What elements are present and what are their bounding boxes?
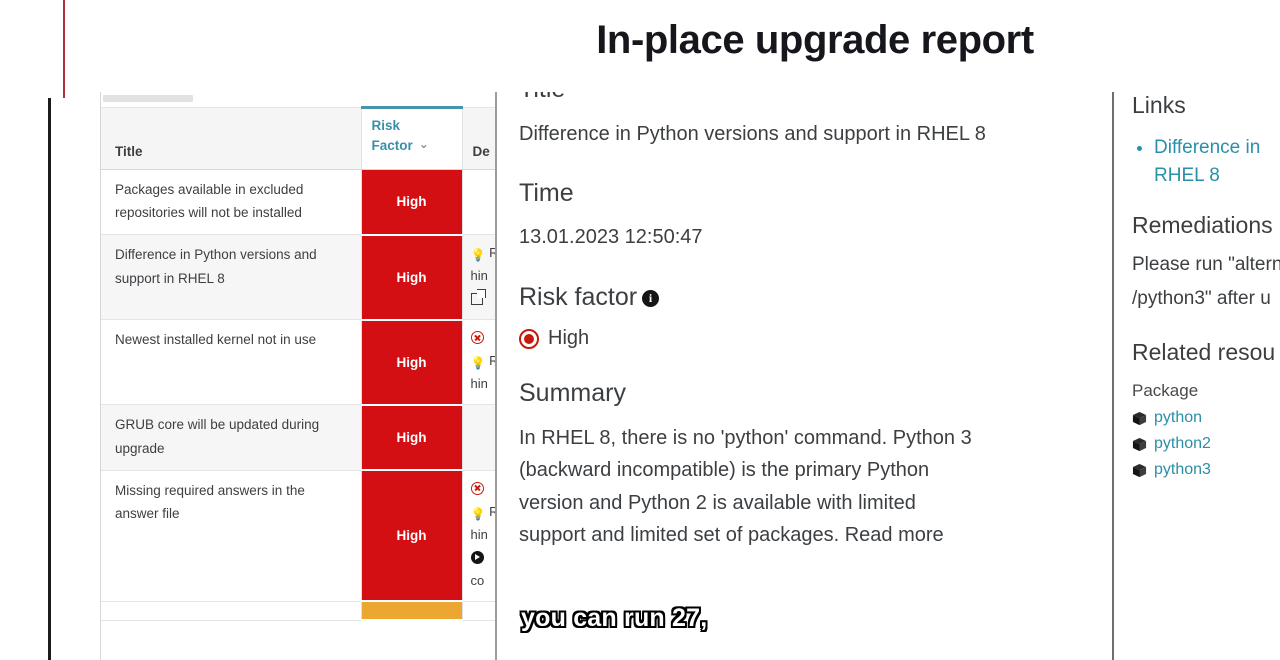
summary-line: (backward incompatible) is the primary P…	[519, 454, 1094, 486]
chevron-down-icon[interactable]: ⌄	[419, 136, 429, 154]
detail-text: co	[471, 573, 485, 588]
related-resources-heading: Related resou	[1132, 339, 1280, 365]
table-row[interactable]: Packages available in excluded repositor…	[101, 170, 496, 235]
cell-details	[462, 405, 496, 470]
column-header-risk-factor[interactable]: Risk Factor⌄	[361, 108, 462, 170]
remediation-line: /python3" after u	[1132, 284, 1280, 314]
remediations-heading: Remediations	[1132, 212, 1280, 238]
cell-risk-factor	[361, 601, 462, 620]
error-circle-icon	[471, 482, 484, 495]
package-label: Package	[1132, 381, 1280, 401]
column-header-risk-line1: Risk	[372, 118, 401, 133]
list-item[interactable]: python3	[1132, 461, 1280, 479]
decorative-black-rule	[48, 98, 51, 660]
lightbulb-icon: 💡	[471, 353, 486, 374]
table-horizontal-scrollbar[interactable]	[101, 92, 496, 106]
cell-details: 💡 R hin	[462, 320, 496, 405]
panel-divider-right	[1112, 92, 1114, 660]
package-name[interactable]: python3	[1154, 461, 1211, 479]
sidebar-pane: Links Difference in RHEL 8 Remediations …	[1132, 92, 1280, 660]
table-row[interactable]: Missing required answers in the answer f…	[101, 470, 496, 601]
radio-selected-icon[interactable]	[519, 329, 539, 349]
detail-risk-heading: Risk factori	[519, 284, 1094, 312]
risk-table-body: Packages available in excluded repositor…	[101, 170, 496, 621]
summary-line: support and limited set of packages. Rea…	[519, 519, 1094, 551]
links-list: Difference in RHEL 8	[1154, 134, 1280, 189]
cell-title: Difference in Python versions and suppor…	[101, 235, 361, 320]
cell-title: GRUB core will be updated during upgrade	[101, 405, 361, 470]
table-header-row: Title Risk Factor⌄ De	[101, 108, 496, 170]
scrollbar-thumb[interactable]	[103, 95, 193, 102]
report-screen: In-place upgrade report Title Risk Facto…	[0, 0, 1280, 660]
cell-risk-factor: High	[361, 235, 462, 320]
detail-text: hin	[471, 527, 488, 542]
column-header-risk-line2: Factor	[372, 138, 413, 153]
cell-risk-factor: High	[361, 170, 462, 235]
package-icon	[1132, 411, 1147, 426]
risk-table-panel: Title Risk Factor⌄ De Packages available…	[100, 92, 496, 660]
detail-text: hin	[471, 268, 488, 283]
column-header-title-label: Title	[115, 144, 143, 159]
summary-line: In RHEL 8, there is no 'python' command.…	[519, 422, 1094, 454]
subtitle-caption: you can run 27,	[521, 604, 707, 633]
cell-details: 💡 R hin co	[462, 470, 496, 601]
cell-title: Missing required answers in the answer f…	[101, 470, 361, 601]
detail-title-heading: Title	[519, 92, 1094, 104]
cell-title: Packages available in excluded repositor…	[101, 170, 361, 235]
list-item[interactable]: python	[1132, 409, 1280, 427]
cell-risk-factor: High	[361, 405, 462, 470]
table-row[interactable]	[101, 601, 496, 620]
detail-summary-heading: Summary	[519, 380, 1094, 408]
lightbulb-icon: 💡	[471, 504, 486, 525]
detail-title-value: Difference in Python versions and suppor…	[519, 118, 1094, 150]
column-header-details-label: De	[473, 144, 490, 159]
detail-risk-value: High	[548, 327, 589, 350]
cell-risk-factor: High	[361, 470, 462, 601]
list-item[interactable]: python2	[1132, 435, 1280, 453]
package-icon	[1132, 463, 1147, 478]
link-text[interactable]: Difference in	[1154, 137, 1260, 158]
detail-risk-heading-label: Risk factor	[519, 283, 637, 311]
play-circle-icon[interactable]	[471, 551, 484, 564]
list-item[interactable]: Difference in RHEL 8	[1154, 134, 1280, 189]
table-row[interactable]: GRUB core will be updated during upgrade…	[101, 405, 496, 470]
column-header-title[interactable]: Title	[101, 108, 361, 170]
links-heading: Links	[1132, 92, 1280, 118]
cell-title: Newest installed kernel not in use	[101, 320, 361, 405]
table-row[interactable]: Difference in Python versions and suppor…	[101, 235, 496, 320]
decorative-red-rule	[63, 0, 65, 98]
info-icon[interactable]: i	[642, 290, 659, 307]
summary-line: version and Python 2 is available with l…	[519, 487, 1094, 519]
package-name[interactable]: python2	[1154, 435, 1211, 453]
link-text[interactable]: RHEL 8	[1154, 165, 1220, 186]
cell-title	[101, 601, 361, 620]
detail-risk-radio-row[interactable]: High	[519, 327, 1094, 350]
cell-risk-factor: High	[361, 320, 462, 405]
detail-time-value: 13.01.2023 12:50:47	[519, 221, 1094, 253]
panel-divider-left	[495, 92, 497, 660]
table-row[interactable]: Newest installed kernel not in use High …	[101, 320, 496, 405]
risk-table: Title Risk Factor⌄ De Packages available…	[101, 106, 496, 621]
remediation-line: Please run "altern	[1132, 250, 1280, 280]
package-name[interactable]: python	[1154, 409, 1202, 427]
detail-summary-body: In RHEL 8, there is no 'python' command.…	[519, 422, 1094, 552]
detail-time-heading: Time	[519, 180, 1094, 208]
cell-details	[462, 601, 496, 620]
lightbulb-icon: 💡	[471, 245, 486, 266]
detail-text: hin	[471, 376, 488, 391]
page-title: In-place upgrade report	[525, 18, 1105, 63]
external-link-icon[interactable]	[471, 293, 483, 305]
cell-details: 💡 R hin	[462, 235, 496, 320]
package-icon	[1132, 437, 1147, 452]
detail-pane: Title Difference in Python versions and …	[519, 92, 1094, 660]
column-header-details[interactable]: De	[462, 108, 496, 170]
error-circle-icon	[471, 331, 484, 344]
cell-details	[462, 170, 496, 235]
